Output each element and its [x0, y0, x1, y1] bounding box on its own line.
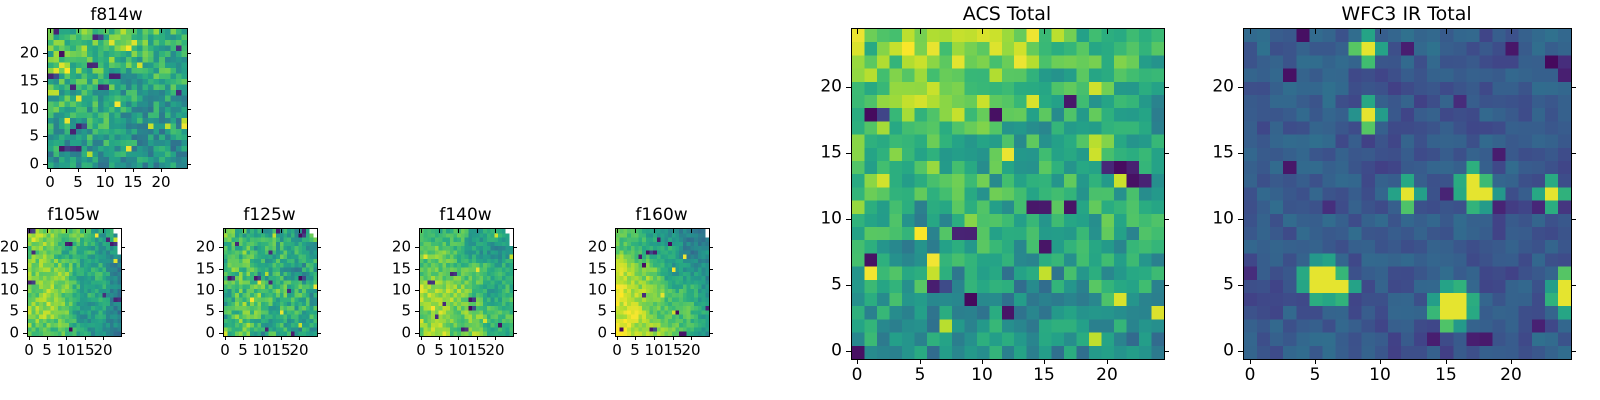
ytick-wfc3-ir-total-2: [1238, 219, 1243, 220]
ytick-right-wfc3-ir-total-2: [1571, 219, 1576, 220]
xtick-top-wfc3-ir-total-1: [1315, 29, 1316, 34]
xticklabel-wfc3-ir-total-0: 0: [1245, 366, 1256, 385]
ytick-wfc3-ir-total-3: [1238, 153, 1243, 154]
yticklabel-wfc3-ir-total-1: 5: [1188, 276, 1234, 295]
xticklabel-wfc3-ir-total-3: 15: [1435, 366, 1457, 385]
heatmap-wfc3-ir-total: [1244, 29, 1571, 359]
xticklabel-wfc3-ir-total-2: 10: [1369, 366, 1391, 385]
xtick-top-wfc3-ir-total-4: [1511, 29, 1512, 34]
axes-wfc3-ir-total: [1243, 28, 1572, 360]
panel-wfc3-ir-total: WFC3 IR Total0510152005101520: [0, 0, 1600, 400]
yticklabel-wfc3-ir-total-2: 10: [1188, 210, 1234, 229]
xtick-wfc3-ir-total-3: [1446, 359, 1447, 364]
xtick-wfc3-ir-total-1: [1315, 359, 1316, 364]
ytick-right-wfc3-ir-total-0: [1571, 351, 1576, 352]
xticklabel-wfc3-ir-total-1: 5: [1310, 366, 1321, 385]
xtick-top-wfc3-ir-total-2: [1380, 29, 1381, 34]
xtick-top-wfc3-ir-total-0: [1250, 29, 1251, 34]
ytick-wfc3-ir-total-1: [1238, 285, 1243, 286]
ytick-right-wfc3-ir-total-1: [1571, 285, 1576, 286]
ytick-right-wfc3-ir-total-3: [1571, 153, 1576, 154]
ytick-wfc3-ir-total-0: [1238, 351, 1243, 352]
yticklabel-wfc3-ir-total-3: 15: [1188, 144, 1234, 163]
yticklabel-wfc3-ir-total-0: 0: [1188, 342, 1234, 361]
ytick-right-wfc3-ir-total-4: [1571, 87, 1576, 88]
ytick-wfc3-ir-total-4: [1238, 87, 1243, 88]
xticklabel-wfc3-ir-total-4: 20: [1500, 366, 1522, 385]
yticklabel-wfc3-ir-total-4: 20: [1188, 78, 1234, 97]
xtick-wfc3-ir-total-2: [1380, 359, 1381, 364]
figure-canvas: f814w0510152005101520f105w05101520051015…: [0, 0, 1600, 400]
panel-title-wfc3-ir-total: WFC3 IR Total: [1243, 3, 1570, 25]
xtick-wfc3-ir-total-0: [1250, 359, 1251, 364]
xtick-top-wfc3-ir-total-3: [1446, 29, 1447, 34]
xtick-wfc3-ir-total-4: [1511, 359, 1512, 364]
